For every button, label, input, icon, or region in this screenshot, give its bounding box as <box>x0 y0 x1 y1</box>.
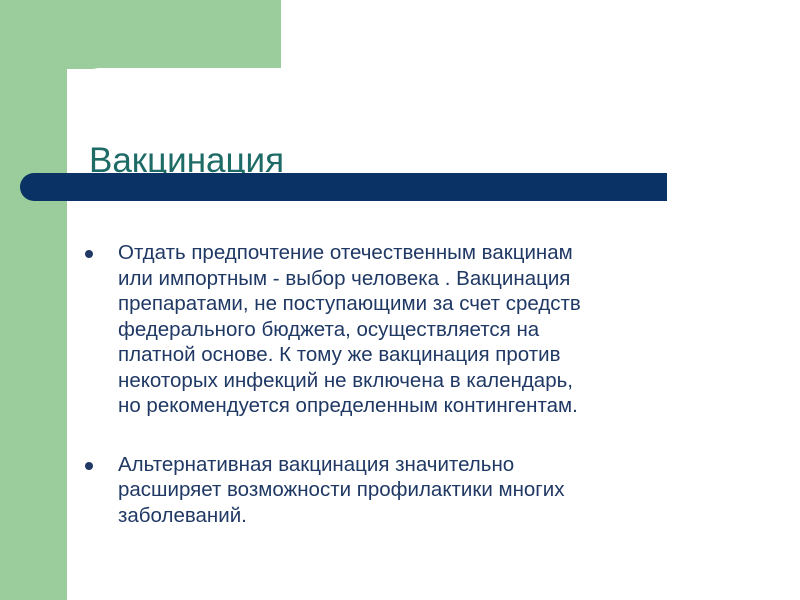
slide-canvas: Вакцинация Отдать предпочтение отечестве… <box>0 0 800 600</box>
slide-body: Отдать предпочтение отечественным вакцин… <box>80 240 780 528</box>
bullet-item-1: Отдать предпочтение отечественным вакцин… <box>80 240 780 419</box>
title-underline-bar <box>20 173 667 201</box>
bullet-item-2: Альтернативная вакцинация значительно ра… <box>80 452 780 529</box>
bullet-point-icon <box>85 462 93 470</box>
bullet-item-1-text: Отдать предпочтение отечественным вакцин… <box>118 240 780 419</box>
bullet-item-2-text: Альтернативная вакцинация значительно ра… <box>118 452 780 529</box>
bullet-point-icon <box>85 250 93 258</box>
decorative-green-left-stripe <box>0 0 67 600</box>
